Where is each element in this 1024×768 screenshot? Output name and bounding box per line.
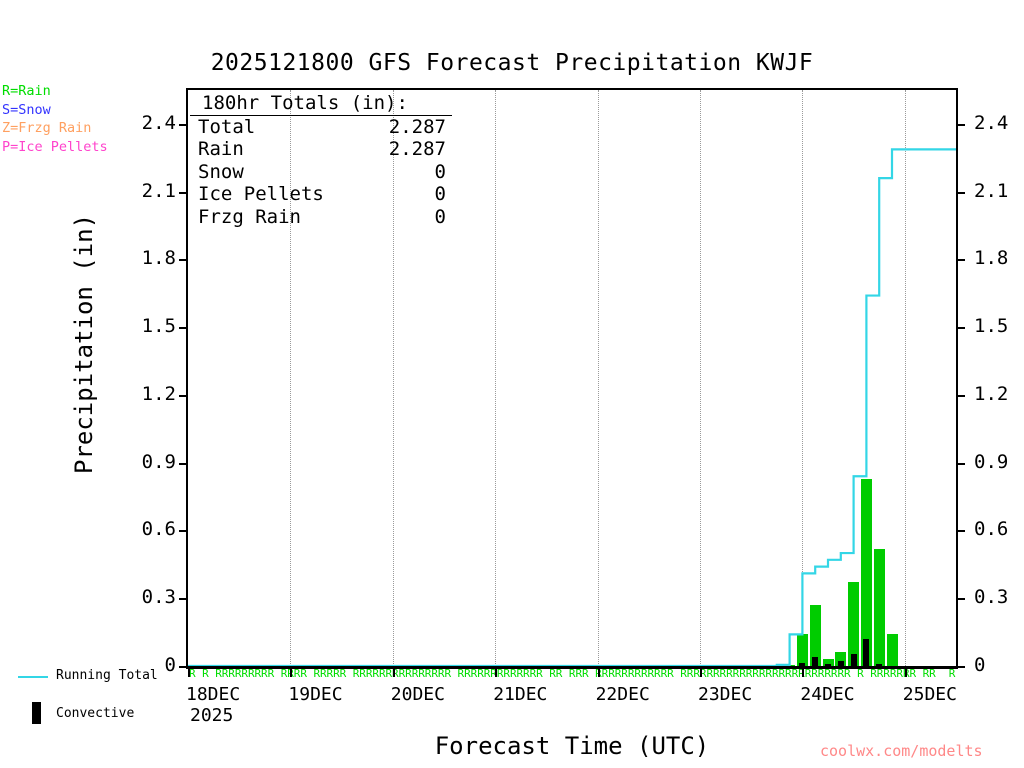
x-tick-mark — [598, 669, 600, 677]
totals-row-name: Frzg Rain — [198, 206, 301, 228]
y-tick-mark — [179, 192, 186, 194]
x-tick-label: 20DEC — [391, 684, 445, 705]
x-tick-label: 24DEC — [800, 684, 854, 705]
y-tick-mark-right — [958, 530, 965, 532]
totals-row-name: Rain — [198, 138, 244, 160]
y-tick-mark-right — [958, 192, 965, 194]
ptype-marker: R — [949, 668, 956, 680]
x-tick-mark — [188, 669, 190, 677]
y-tick-mark-right — [958, 395, 965, 397]
x-tick-label: 19DEC — [288, 684, 342, 705]
totals-row-value: 0 — [301, 206, 446, 228]
y-tick-mark — [179, 395, 186, 397]
ptype-marker: R — [910, 668, 917, 680]
totals-row: Ice Pellets0 — [190, 183, 452, 205]
totals-heading: 180hr Totals (in): — [190, 92, 452, 116]
chart-canvas: 2025121800 GFS Forecast Precipitation KW… — [0, 0, 1024, 768]
y-tick-mark — [179, 463, 186, 465]
y-tick-label: 1.8 — [128, 247, 176, 269]
y-tick-label-right: 2.1 — [974, 180, 1022, 202]
ptype-marker: R — [444, 668, 451, 680]
totals-row-name: Total — [198, 116, 255, 138]
x-tick-mark — [495, 669, 497, 677]
x-tick-label: 21DEC — [493, 684, 547, 705]
ptype-marker: R — [556, 668, 563, 680]
totals-row: Rain2.287 — [190, 138, 452, 160]
ptype-marker: R — [844, 668, 851, 680]
x-tick-mark — [802, 669, 804, 677]
y-tick-mark — [179, 259, 186, 261]
ptype-marker: R — [300, 668, 307, 680]
totals-rows: Total2.287Rain2.287Snow0Ice Pellets0Frzg… — [190, 116, 452, 228]
ptype-marker: R — [268, 668, 275, 680]
y-tick-label-right: 0.3 — [974, 586, 1022, 608]
ptype-legend-item-ice-pellets: P=Ice Pellets — [2, 138, 162, 157]
y-tick-mark-right — [958, 463, 965, 465]
y-tick-mark-right — [958, 666, 965, 668]
ptype-legend-label-snow: S=Snow — [2, 102, 51, 118]
y-tick-label-right: 0.6 — [974, 518, 1022, 540]
y-tick-label-right: 2.4 — [974, 112, 1022, 134]
ptype-marker: R — [340, 668, 347, 680]
y-tick-label: 0.6 — [128, 518, 176, 540]
totals-row-value: 2.287 — [244, 138, 446, 160]
x-tick-label: 22DEC — [596, 684, 650, 705]
y-tick-mark — [179, 598, 186, 600]
ptype-legend-item-rain: R=Rain — [2, 82, 162, 101]
y-tick-mark-right — [958, 259, 965, 261]
y-tick-mark — [179, 124, 186, 126]
y-tick-mark-right — [958, 327, 965, 329]
y-tick-label: 2.4 — [128, 112, 176, 134]
totals-row-value: 0 — [244, 161, 446, 183]
ptype-marker: R — [582, 668, 589, 680]
totals-box: 180hr Totals (in): Total2.287Rain2.287Sn… — [190, 90, 452, 228]
x-tick-label: 23DEC — [698, 684, 752, 705]
page-title: 2025121800 GFS Forecast Precipitation KW… — [0, 50, 1024, 76]
y-axis-title: Precipitation (in) — [70, 234, 98, 474]
legend-item-running-total: Running Total — [10, 666, 180, 688]
legend-label-convective: Convective — [56, 706, 134, 721]
ptype-marker: R — [202, 668, 209, 680]
y-tick-mark — [179, 666, 186, 668]
y-tick-mark-right — [958, 124, 965, 126]
ptype-legend-label-ice-pellets: P=Ice Pellets — [2, 139, 108, 155]
legend-label-running-total: Running Total — [56, 668, 158, 683]
x-tick-mark — [290, 669, 292, 677]
y-tick-label: 2.1 — [128, 180, 176, 202]
x-tick-label: 25DEC — [903, 684, 957, 705]
y-tick-label-right: 1.5 — [974, 315, 1022, 337]
totals-row-name: Snow — [198, 161, 244, 183]
ptype-marker: R — [929, 668, 936, 680]
y-tick-label-right: 0.9 — [974, 451, 1022, 473]
ptype-marker: R — [667, 668, 674, 680]
y-tick-label: 1.2 — [128, 383, 176, 405]
y-tick-label-right: 1.8 — [974, 247, 1022, 269]
y-tick-label: 0.9 — [128, 451, 176, 473]
totals-row-value: 0 — [324, 183, 446, 205]
x-tick-mark — [905, 669, 907, 677]
watermark: coolwx.com/modelts — [820, 742, 983, 760]
totals-row: Snow0 — [190, 161, 452, 183]
ptype-legend-label-rain: R=Rain — [2, 83, 51, 99]
y-tick-mark — [179, 530, 186, 532]
totals-row: Frzg Rain0 — [190, 206, 452, 228]
bar-swatch-icon — [32, 702, 41, 724]
y-tick-mark — [179, 327, 186, 329]
y-tick-label: 0.3 — [128, 586, 176, 608]
legend-item-convective: Convective — [10, 702, 180, 726]
ptype-marker-row: RRRRRRRRRRRRRRRRRRRRRRRRRRRRRRRRRRRRRRRR… — [186, 668, 958, 683]
x-tick-mark — [393, 669, 395, 677]
totals-row-name: Ice Pellets — [198, 183, 324, 205]
ptype-marker: R — [536, 668, 543, 680]
y-tick-label-right: 1.2 — [974, 383, 1022, 405]
x-axis-year-label: 2025 — [190, 705, 233, 726]
y-tick-label: 1.5 — [128, 315, 176, 337]
totals-row-value: 2.287 — [255, 116, 446, 138]
ptype-marker: R — [857, 668, 864, 680]
x-tick-mark — [700, 669, 702, 677]
line-swatch-icon — [18, 676, 48, 678]
y-tick-label-right: 0 — [974, 654, 1022, 676]
totals-row: Total2.287 — [190, 116, 452, 138]
y-tick-mark-right — [958, 598, 965, 600]
x-tick-label: 18DEC — [186, 684, 240, 705]
ptype-legend-label-frzg-rain: Z=Frzg Rain — [2, 120, 91, 136]
